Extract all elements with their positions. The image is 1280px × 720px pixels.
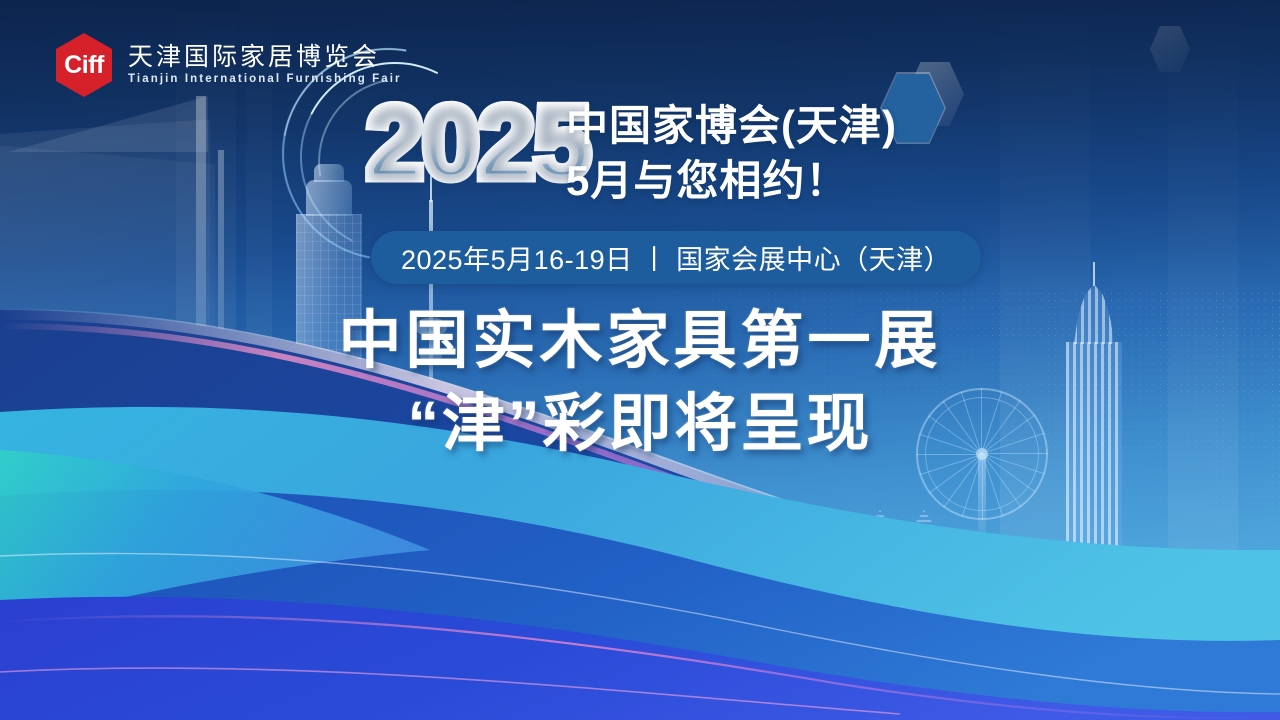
event-title-line2: 5月与您相约！ xyxy=(566,154,897,209)
ciff-logo-lockup[interactable]: Ciff 天津国际家居博览会 Tianjin International Fur… xyxy=(56,33,402,97)
banner-content: Ciff 天津国际家居博览会 Tianjin International Fur… xyxy=(0,0,1280,720)
brand-name-block: 天津国际家居博览会 Tianjin International Furnishi… xyxy=(128,44,402,86)
slogan-line1: 中国实木家具第一展 xyxy=(0,300,1280,383)
ciff-logo-wordmark: Ciff xyxy=(64,51,104,80)
slogan-block: 中国实木家具第一展 “津”彩即将呈现 xyxy=(0,300,1280,466)
slogan-line2: “津”彩即将呈现 xyxy=(0,383,1280,466)
brand-name-cn: 天津国际家居博览会 xyxy=(128,44,402,72)
ciff-hexagon-logo-icon: Ciff xyxy=(56,33,112,97)
event-title: 中国家博会(天津) 5月与您相约！ xyxy=(566,99,897,208)
event-title-line1: 中国家博会(天津) xyxy=(566,102,897,149)
year-numeral: 2025 xyxy=(366,96,589,192)
promotional-banner: Ciff 天津国际家居博览会 Tianjin International Fur… xyxy=(0,0,1280,720)
date-venue-badge: 2025年5月16-19日 丨 国家会展中心（天津） xyxy=(371,231,981,284)
brand-name-en: Tianjin International Furnishing Fair xyxy=(128,73,402,86)
